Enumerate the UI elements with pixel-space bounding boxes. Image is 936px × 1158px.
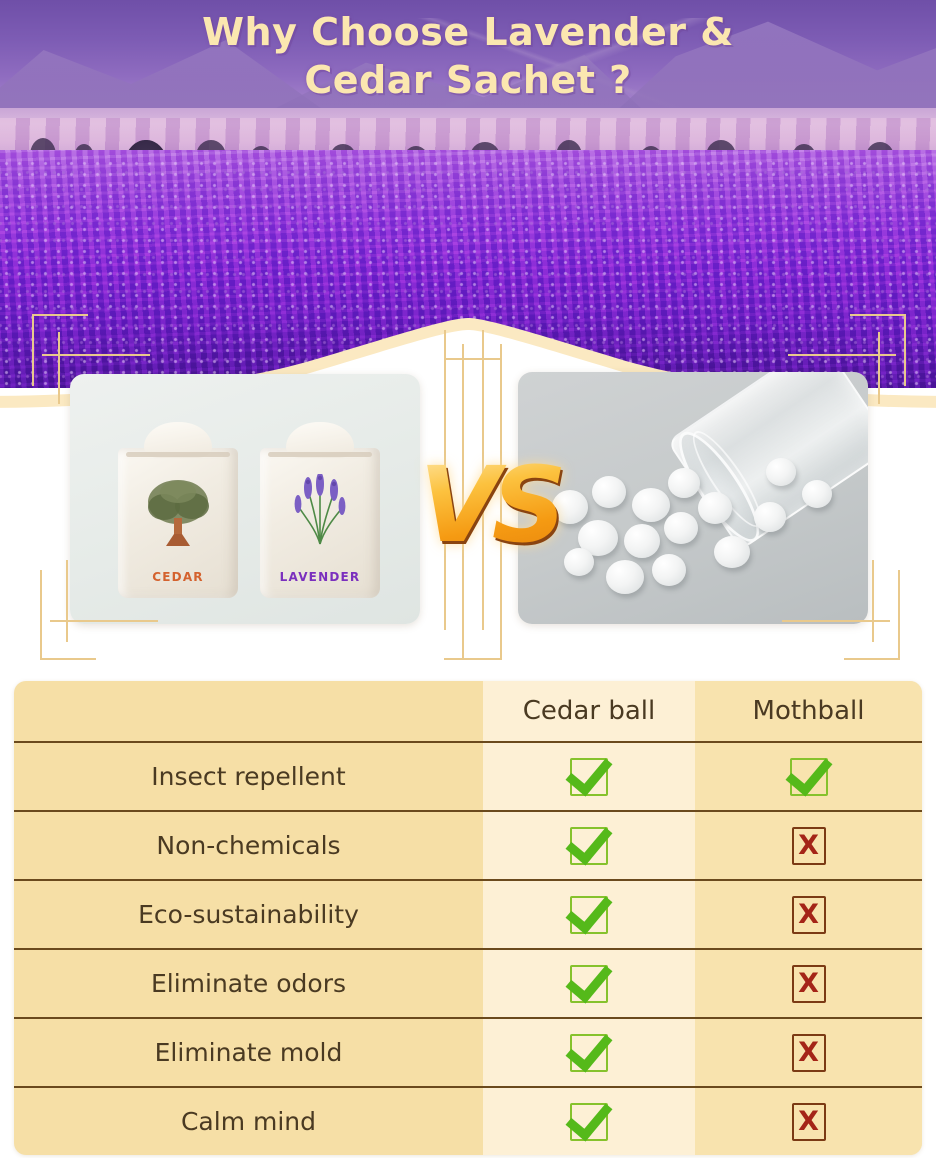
check-icon xyxy=(570,758,608,796)
page-title: Why Choose Lavender & Cedar Sachet ? xyxy=(0,8,936,104)
feature-label: Calm mind xyxy=(14,1107,483,1136)
cedar-tree-graphic xyxy=(144,474,212,546)
check-icon xyxy=(570,896,608,934)
sachet-product-photo: CEDAR xyxy=(70,374,420,624)
check-icon xyxy=(790,758,828,796)
table-row: Non-chemicals X xyxy=(14,810,922,879)
feature-label: Eco-sustainability xyxy=(14,900,483,929)
cedar-bag-label: CEDAR xyxy=(118,570,238,584)
mothball-value: X xyxy=(695,896,922,934)
mothball-value xyxy=(695,758,922,796)
mothball-value: X xyxy=(695,1034,922,1072)
mothball-value: X xyxy=(695,965,922,1003)
lavender-sachet-bag: LAVENDER xyxy=(260,448,380,598)
table-header-row: Cedar ball Mothball xyxy=(14,681,922,741)
versus-badge: VS xyxy=(404,440,574,580)
check-icon xyxy=(570,965,608,1003)
table-row: Eliminate mold X xyxy=(14,1017,922,1086)
drawstring xyxy=(268,452,372,457)
table-row: Eliminate odors X xyxy=(14,948,922,1017)
check-icon xyxy=(570,1103,608,1141)
mothball-value: X xyxy=(695,827,922,865)
infographic-page: Why Choose Lavender & Cedar Sachet ? xyxy=(0,0,936,1158)
cedar-ball-value xyxy=(483,758,695,796)
feature-label: Insect repellent xyxy=(14,762,483,791)
cedar-ball-value xyxy=(483,1103,695,1141)
cross-icon: X xyxy=(792,1103,826,1141)
table-row: Calm mind X xyxy=(14,1086,922,1155)
cross-icon: X xyxy=(792,827,826,865)
feature-label: Eliminate odors xyxy=(14,969,483,998)
cedar-ball-value xyxy=(483,896,695,934)
title-line-2: Cedar Sachet ? xyxy=(0,56,936,104)
cedar-ball-value xyxy=(483,827,695,865)
cross-icon: X xyxy=(792,965,826,1003)
feature-label: Non-chemicals xyxy=(14,831,483,860)
lavender-bag-label: LAVENDER xyxy=(260,570,380,584)
mothball-value: X xyxy=(695,1103,922,1141)
cedar-ball-value xyxy=(483,965,695,1003)
header-mothball: Mothball xyxy=(695,696,922,726)
cross-icon: X xyxy=(792,1034,826,1072)
comparison-table: Cedar ball Mothball Insect repellent Non… xyxy=(14,681,922,1155)
table-row: Eco-sustainability X xyxy=(14,879,922,948)
cedar-sachet-bag: CEDAR xyxy=(118,448,238,598)
check-icon xyxy=(570,1034,608,1072)
header-cedar-ball: Cedar ball xyxy=(483,696,695,726)
cross-icon: X xyxy=(792,896,826,934)
title-line-1: Why Choose Lavender & xyxy=(202,10,734,54)
table-row: Insect repellent xyxy=(14,741,922,810)
cedar-ball-value xyxy=(483,1034,695,1072)
drawstring xyxy=(126,452,230,457)
feature-label: Eliminate mold xyxy=(14,1038,483,1067)
check-icon xyxy=(570,827,608,865)
lavender-sprig-graphic xyxy=(284,474,356,548)
